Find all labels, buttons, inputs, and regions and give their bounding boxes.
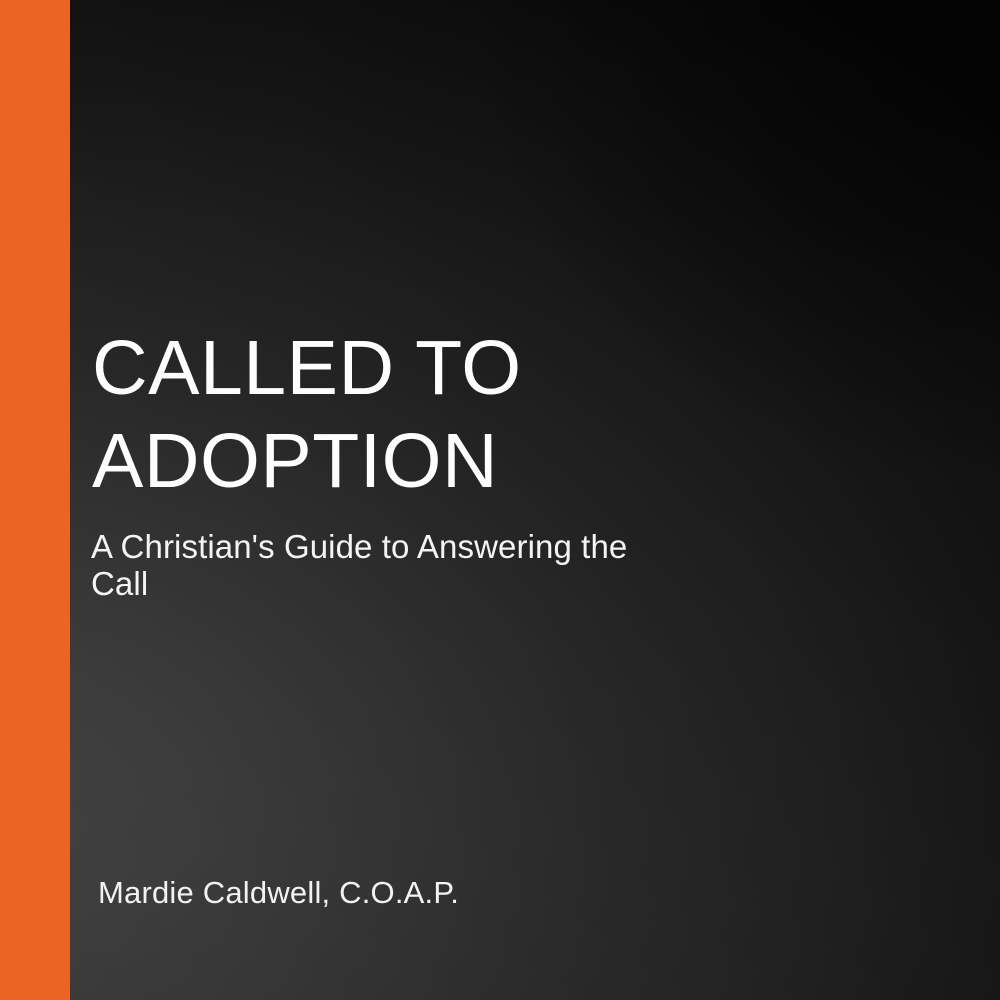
book-subtitle: A Christian's Guide to Answering the Cal… (91, 528, 691, 602)
title-line-2: ADOPTION (92, 415, 882, 508)
title-line-1: CALLED TO (92, 322, 882, 415)
book-title: CALLED TO ADOPTION (92, 322, 882, 508)
audiobook-cover: CALLED TO ADOPTION A Christian's Guide t… (0, 0, 1000, 1000)
book-author: Mardie Caldwell, C.O.A.P. (98, 875, 459, 911)
cover-text-layer: CALLED TO ADOPTION A Christian's Guide t… (0, 0, 1000, 1000)
